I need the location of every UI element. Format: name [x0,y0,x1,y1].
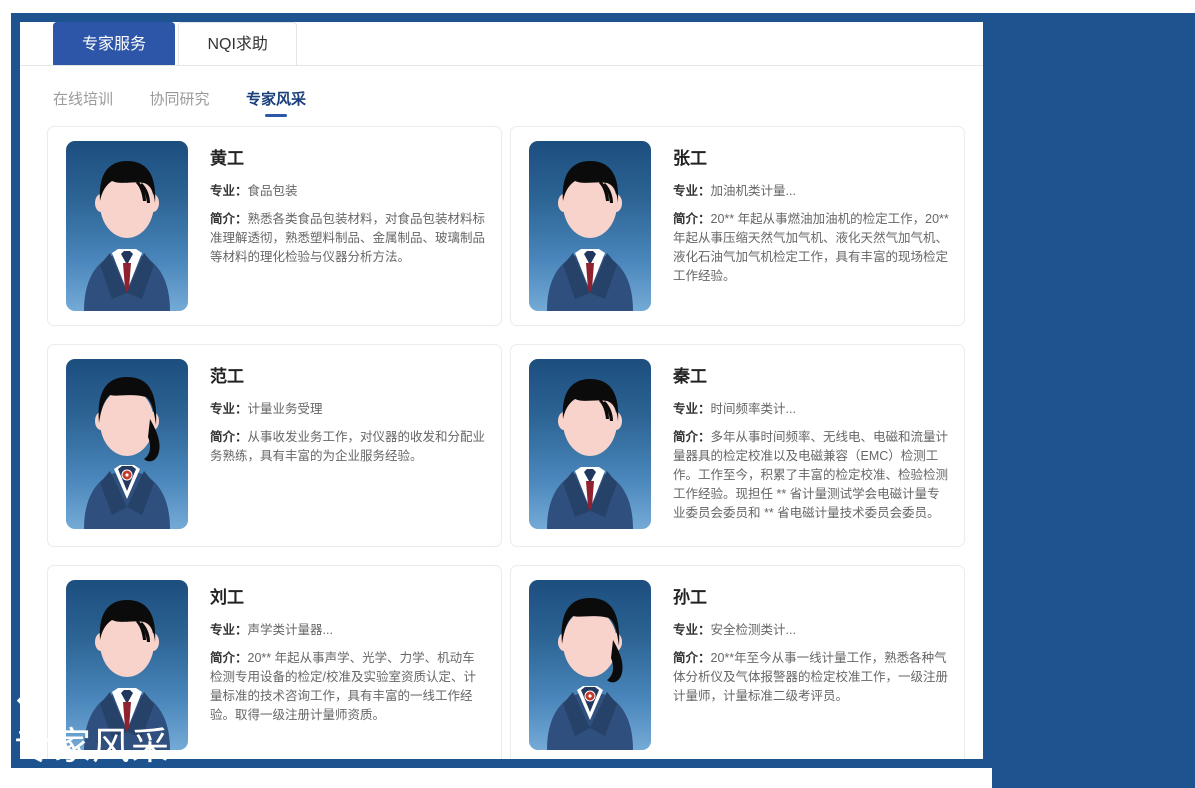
avatar [529,580,651,750]
expert-info: 秦工 专业：时间频率类计... 简介：多年从事时间频率、无线电、电磁和流量计量器… [651,359,950,532]
page-content: 专家服务 NQI求助 在线培训 协同研究 专家风采 [20,22,983,759]
expert-name: 孙工 [673,588,950,608]
expert-bio-row: 简介：多年从事时间频率、无线电、电磁和流量计量器具的检定校准以及电磁兼容（EMC… [673,428,950,523]
expert-info: 范工 专业：计量业务受理 简介：从事收发业务工作，对仪器的收发和分配业务熟练，具… [188,359,487,532]
expert-info: 刘工 专业：声学类计量器... 简介：20** 年起从事声学、光学、力学、机动车… [188,580,487,750]
bio-value: 多年从事时间频率、无线电、电磁和流量计量器具的检定校准以及电磁兼容（EMC）检测… [673,430,948,520]
expert-bio-row: 简介：20** 年起从事燃油加油机的检定工作，20**年起从事压缩天然气加气机、… [673,210,950,286]
major-label: 专业： [210,184,248,198]
highlight-frame: 专家服务 NQI求助 在线培训 协同研究 专家风采 [11,13,992,768]
expert-major-row: 专业：加油机类计量... [673,182,950,201]
major-value: 安全检测类计... [711,623,796,637]
secondary-tabbar: 在线培训 协同研究 专家风采 [20,66,983,108]
expert-major-row: 专业：时间频率类计... [673,400,950,419]
bio-label: 简介： [210,212,248,226]
bio-value: 20** 年起从事声学、光学、力学、机动车检测专用设备的检定/校准及实验室资质认… [210,651,476,722]
major-label: 专业： [210,402,248,416]
annotation-panel [992,13,1195,788]
avatar [529,141,651,311]
expert-major-row: 专业：声学类计量器... [210,621,487,640]
bio-value: 熟悉各类食品包装材料，对食品包装材料标准理解透彻，熟悉塑料制品、金属制品、玻璃制… [210,212,485,264]
major-label: 专业： [673,184,711,198]
expert-info: 张工 专业：加油机类计量... 简介：20** 年起从事燃油加油机的检定工作，2… [651,141,950,311]
expert-major-row: 专业：计量业务受理 [210,400,487,419]
major-value: 食品包装 [248,184,298,198]
expert-card[interactable]: 黄工 专业：食品包装 简介：熟悉各类食品包装材料，对食品包装材料标准理解透彻，熟… [47,126,502,326]
expert-major-row: 专业：食品包装 [210,182,487,201]
subtab-online-training[interactable]: 在线培训 [53,88,113,115]
tab-expert-service[interactable]: 专家服务 [53,22,175,65]
expert-card[interactable]: 孙工 专业：安全检测类计... 简介：20**年至今从事一线计量工作，熟悉各种气… [510,565,965,765]
major-value: 声学类计量器... [248,623,333,637]
expert-bio-row: 简介：20**年至今从事一线计量工作，熟悉各种气体分析仪及气体报警器的检定校准工… [673,649,950,706]
annotation-label: 专家风采 [14,724,170,770]
expert-info: 孙工 专业：安全检测类计... 简介：20**年至今从事一线计量工作，熟悉各种气… [651,580,950,750]
major-label: 专业： [210,623,248,637]
bio-label: 简介： [210,430,248,444]
bio-label: 简介： [673,430,711,444]
avatar [66,359,188,529]
avatar [66,141,188,311]
bio-label: 简介： [210,651,248,665]
expert-card[interactable]: 秦工 专业：时间频率类计... 简介：多年从事时间频率、无线电、电磁和流量计量器… [510,344,965,547]
arrow-left-icon: ⬅ [16,684,56,718]
expert-name: 刘工 [210,588,487,608]
expert-name: 秦工 [673,367,950,387]
bio-value: 20**年至今从事一线计量工作，熟悉各种气体分析仪及气体报警器的检定校准工作，一… [673,651,948,703]
tab-nqi-help[interactable]: NQI求助 [178,22,296,65]
expert-bio-row: 简介：从事收发业务工作，对仪器的收发和分配业务熟练，具有丰富的为企业服务经验。 [210,428,487,466]
expert-bio-row: 简介：20** 年起从事声学、光学、力学、机动车检测专用设备的检定/校准及实验室… [210,649,487,725]
major-value: 时间频率类计... [711,402,796,416]
expert-name: 张工 [673,149,950,169]
major-value: 加油机类计量... [711,184,796,198]
expert-name: 黄工 [210,149,487,169]
major-label: 专业： [673,623,711,637]
bio-value: 20** 年起从事燃油加油机的检定工作，20**年起从事压缩天然气加气机、液化天… [673,212,949,283]
expert-info: 黄工 专业：食品包装 简介：熟悉各类食品包装材料，对食品包装材料标准理解透彻，熟… [188,141,487,311]
avatar [529,359,651,529]
primary-tabbar: 专家服务 NQI求助 [20,22,983,66]
major-label: 专业： [673,402,711,416]
subtab-expert-showcase[interactable]: 专家风采 [246,88,306,115]
expert-card[interactable]: 张工 专业：加油机类计量... 简介：20** 年起从事燃油加油机的检定工作，2… [510,126,965,326]
bio-label: 简介： [673,212,711,226]
bio-label: 简介： [673,651,711,665]
expert-card[interactable]: 范工 专业：计量业务受理 简介：从事收发业务工作，对仪器的收发和分配业务熟练，具… [47,344,502,547]
expert-bio-row: 简介：熟悉各类食品包装材料，对食品包装材料标准理解透彻，熟悉塑料制品、金属制品、… [210,210,487,267]
expert-name: 范工 [210,367,487,387]
subtab-collaborative-research[interactable]: 协同研究 [149,88,209,115]
expert-major-row: 专业：安全检测类计... [673,621,950,640]
bio-value: 从事收发业务工作，对仪器的收发和分配业务熟练，具有丰富的为企业服务经验。 [210,430,485,463]
expert-card-grid: 黄工 专业：食品包装 简介：熟悉各类食品包装材料，对食品包装材料标准理解透彻，熟… [20,108,983,768]
major-value: 计量业务受理 [248,402,323,416]
